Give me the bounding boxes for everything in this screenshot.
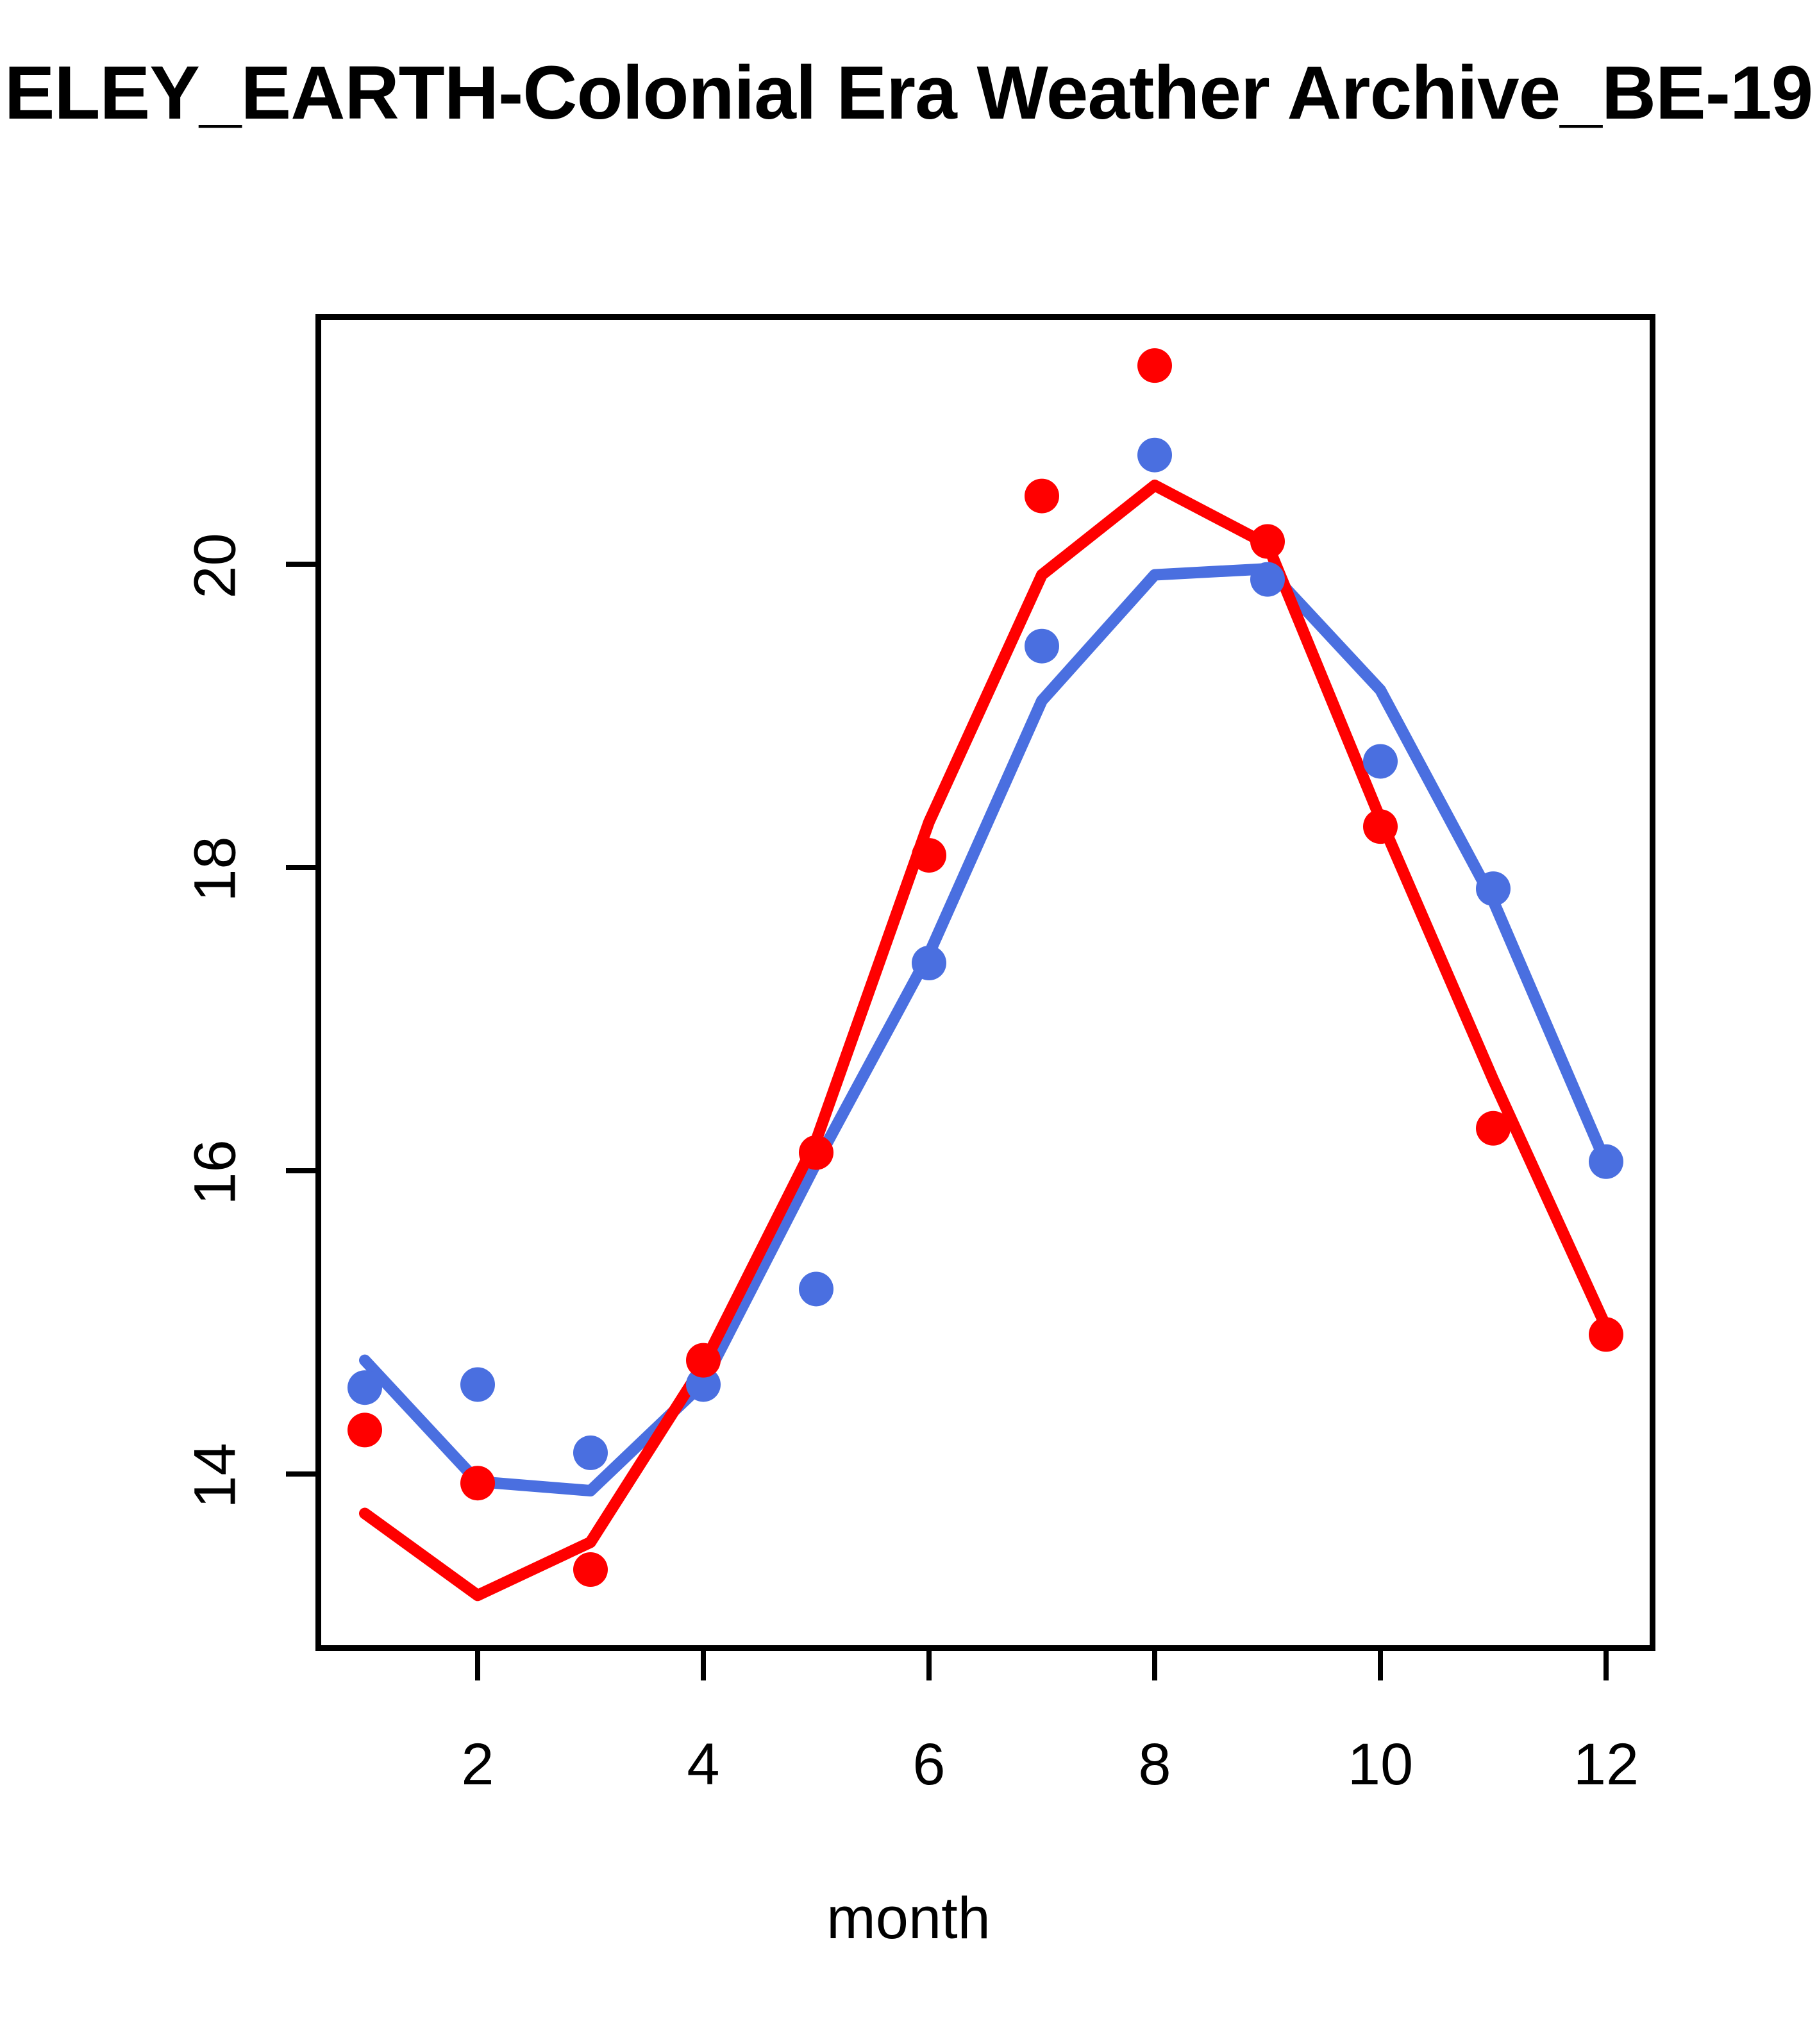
data-point [799,1135,833,1170]
x-tick-label-2: 2 [401,1731,555,1798]
data-point [912,838,946,873]
page-title: ELEY_EARTH-Colonial Era Weather Archive_… [4,54,1813,133]
y-tick-label-20: 20 [182,508,249,624]
y-tick-label-16: 16 [182,1115,249,1230]
series-line [365,485,1606,1595]
x-tick-label-8: 8 [1078,1731,1232,1798]
data-point [347,1370,382,1405]
y-tick-14 [286,1471,315,1477]
x-tick-6 [926,1651,932,1680]
x-tick-label-6: 6 [852,1731,1006,1798]
data-point [347,1412,382,1447]
data-point [460,1466,495,1500]
data-point [912,946,946,980]
data-point [1363,809,1398,844]
data-point [573,1552,608,1587]
x-tick-4 [701,1651,706,1680]
plot-canvas [315,314,1655,1651]
x-tick-12 [1603,1651,1609,1680]
data-point [1589,1144,1623,1179]
x-tick-label-10: 10 [1303,1731,1457,1798]
data-point [1476,1111,1511,1146]
x-axis-title: month [0,1885,1817,1952]
x-tick-label-12: 12 [1529,1731,1683,1798]
data-point [1250,562,1285,597]
data-point [1137,348,1172,383]
data-point [686,1343,721,1378]
y-tick-label-14: 14 [182,1418,249,1534]
y-tick-label-18: 18 [182,812,249,927]
data-point [1589,1317,1623,1352]
y-tick-18 [286,865,315,870]
data-point [1250,524,1285,559]
x-tick-10 [1378,1651,1383,1680]
y-tick-20 [286,562,315,567]
x-tick-2 [475,1651,480,1680]
y-tick-16 [286,1168,315,1173]
data-point [1137,438,1172,473]
data-point [460,1367,495,1402]
x-tick-8 [1152,1651,1157,1680]
chart-page: ELEY_EARTH-Colonial Era Weather Archive_… [0,0,1817,2044]
data-point [799,1271,833,1306]
data-point [1363,744,1398,778]
data-point [1476,871,1511,906]
data-point [1025,629,1059,664]
data-point [573,1436,608,1470]
x-tick-label-4: 4 [626,1731,780,1798]
data-point [1025,479,1059,514]
